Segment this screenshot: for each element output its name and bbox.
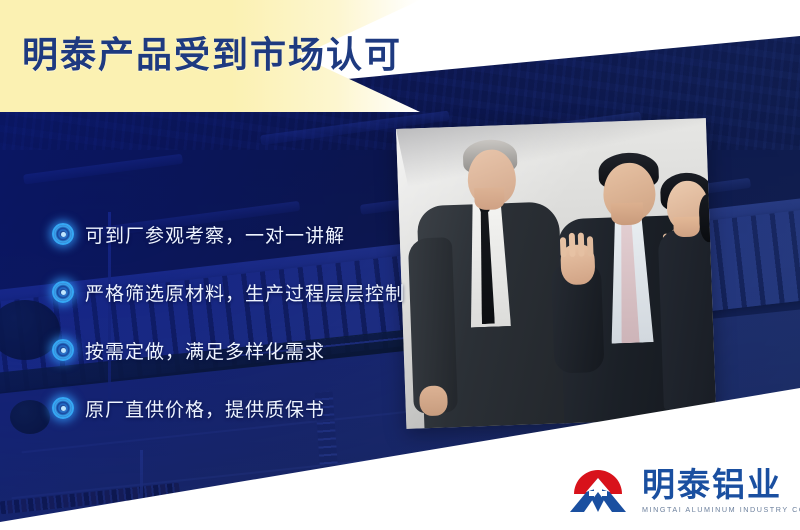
list-item: 可到厂参观考察，一对一讲解 [52,205,432,263]
page-title: 明泰产品受到市场认可 [22,26,402,78]
list-item: 原厂直供价格，提供质保书 [52,379,432,437]
business-people-photo [396,118,716,429]
target-icon [52,223,74,245]
target-icon [52,281,74,303]
feature-list: 可到厂参观考察，一对一讲解 严格筛选原材料，生产过程层层控制 按需定做，满足多样… [52,205,432,437]
target-icon [52,339,74,361]
promo-banner: 明泰产品受到市场认可 可到厂参观考察，一对一讲解 严格筛选原材料，生产过程层层控… [0,0,800,530]
logo-name-en: MINGTAI ALUMINUM INDUSTRY CO., LTD [642,505,800,514]
logo-name-cn: 明泰铝业 [642,466,782,503]
list-item: 按需定做，满足多样化需求 [52,321,432,379]
list-item: 严格筛选原材料，生产过程层层控制 [52,263,432,321]
company-logo: 明泰铝业 MINGTAI ALUMINUM INDUSTRY CO., LTD [560,458,800,514]
logo-text-block: 明泰铝业 MINGTAI ALUMINUM INDUSTRY CO., LTD [642,468,800,514]
list-item-label: 原厂直供价格，提供质保书 [85,395,325,422]
list-item-label: 可到厂参观考察，一对一讲解 [85,221,345,248]
target-icon [52,397,74,419]
list-item-label: 按需定做，满足多样化需求 [85,337,325,364]
list-item-label: 严格筛选原材料，生产过程层层控制 [85,279,405,306]
red-sun-blue-mountain-icon [560,458,636,514]
